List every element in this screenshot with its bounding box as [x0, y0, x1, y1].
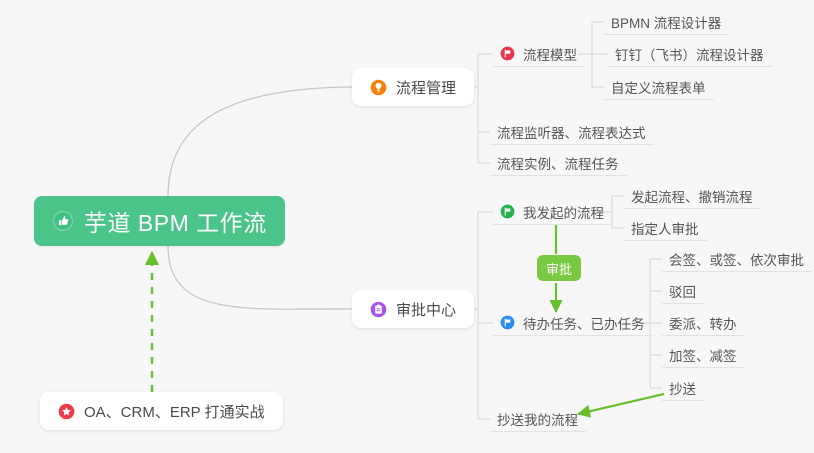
branch-process-management[interactable]: 流程管理	[352, 68, 474, 106]
node-label: 自定义流程表单	[611, 77, 706, 97]
node-label: 流程模型	[523, 44, 577, 64]
root-node[interactable]: 芋道 BPM 工作流	[34, 196, 285, 246]
edge-root-to-approval-center	[168, 246, 352, 309]
approval-tag-label: 审批	[546, 259, 572, 278]
node-assignee-approval[interactable]: 指定人审批	[624, 215, 707, 241]
node-cc-to-me[interactable]: 抄送我的流程	[490, 406, 586, 432]
flag-icon	[500, 204, 515, 219]
lightbulb-icon	[370, 79, 387, 96]
node-label: 加签、减签	[669, 345, 737, 365]
edge-root-to-process-management	[168, 87, 352, 196]
node-label: 驳回	[669, 281, 696, 301]
root-label: 芋道 BPM 工作流	[84, 204, 267, 238]
node-label: 流程实例、流程任务	[497, 153, 619, 173]
node-label: BPMN 流程设计器	[611, 12, 721, 32]
node-label: 抄送	[669, 378, 696, 398]
node-my-initiated[interactable]: 我发起的流程	[493, 199, 612, 225]
clipboard-icon	[370, 301, 387, 318]
node-label: 钉钉（飞书）流程设计器	[615, 44, 764, 64]
node-label: 委派、转办	[669, 313, 737, 333]
edge-green-cc-to-ccme	[578, 394, 664, 414]
node-label: 发起流程、撤销流程	[631, 186, 753, 206]
node-label: 待办任务、已办任务	[523, 313, 645, 333]
star-icon	[58, 403, 75, 420]
thumbs-up-icon	[52, 210, 74, 232]
node-todo-done[interactable]: 待办任务、已办任务	[493, 310, 653, 336]
integration-note-label: OA、CRM、ERP 打通实战	[84, 401, 265, 422]
branch-approval-center[interactable]: 审批中心	[352, 290, 474, 328]
branch-label: 流程管理	[396, 77, 456, 98]
integration-note[interactable]: OA、CRM、ERP 打通实战	[40, 392, 283, 430]
node-reject[interactable]: 驳回	[662, 278, 704, 304]
node-process-model[interactable]: 流程模型	[493, 41, 585, 67]
node-countersign[interactable]: 会签、或签、依次审批	[662, 246, 812, 272]
flag-icon	[500, 315, 515, 330]
node-listener-expression[interactable]: 流程监听器、流程表达式	[490, 119, 654, 145]
node-custom-process-form[interactable]: 自定义流程表单	[604, 74, 714, 100]
node-label: 会签、或签、依次审批	[669, 249, 804, 269]
node-cc[interactable]: 抄送	[662, 375, 704, 401]
node-label: 我发起的流程	[523, 202, 604, 222]
branch-label: 审批中心	[396, 299, 456, 320]
node-delegate-transfer[interactable]: 委派、转办	[662, 310, 745, 336]
node-label: 指定人审批	[631, 218, 699, 238]
node-start-cancel[interactable]: 发起流程、撤销流程	[624, 183, 761, 209]
approval-tag[interactable]: 审批	[537, 255, 581, 281]
mindmap-canvas: 芋道 BPM 工作流 流程管理 流程模型 BPMN 流程设计器 钉钉（飞书）流程	[0, 0, 814, 453]
node-label: 流程监听器、流程表达式	[497, 122, 646, 142]
flag-icon	[500, 46, 515, 61]
node-dingtalk-feishu-designer[interactable]: 钉钉（飞书）流程设计器	[608, 41, 772, 67]
node-label: 抄送我的流程	[497, 409, 578, 429]
node-instance-task[interactable]: 流程实例、流程任务	[490, 150, 627, 176]
node-bpmn-designer[interactable]: BPMN 流程设计器	[604, 9, 729, 35]
node-add-remove-sign[interactable]: 加签、减签	[662, 342, 745, 368]
